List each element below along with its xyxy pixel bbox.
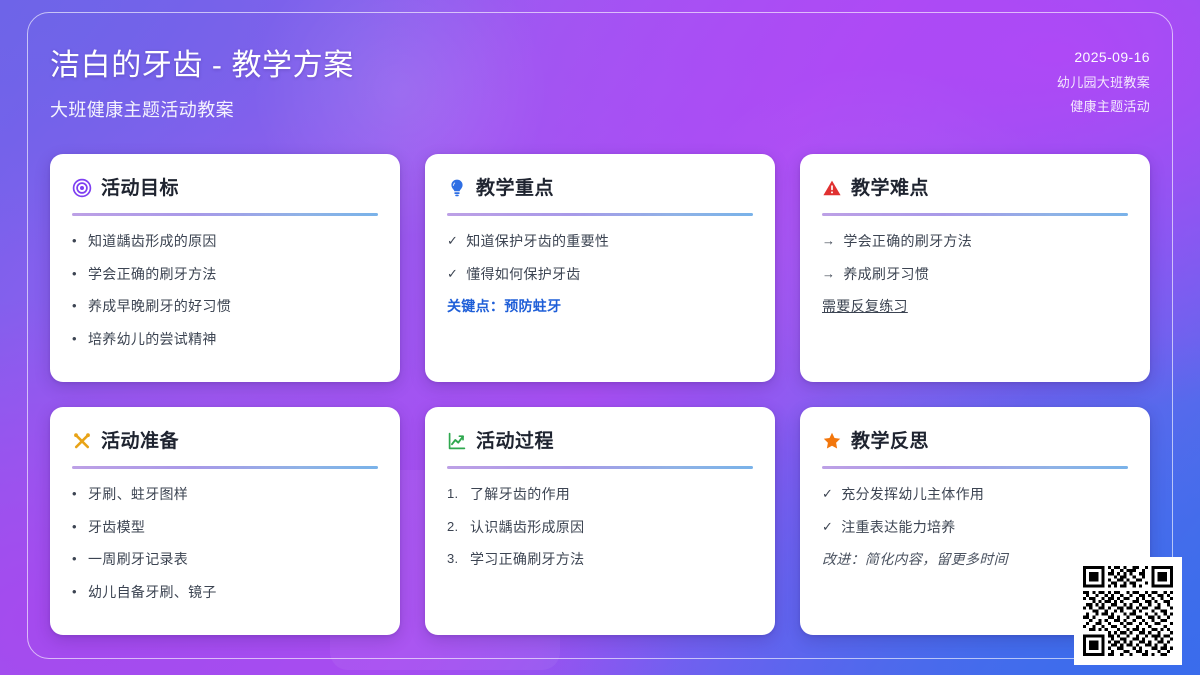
list-item: • 牙刷、蛀牙图样 — [72, 485, 378, 505]
list-item-text: 懂得如何保护牙齿 — [466, 265, 753, 285]
card-item-list: • 牙刷、蛀牙图样 • 牙齿模型 • 一周刷牙记录表 • 幼儿自备牙刷、镜子 — [72, 485, 378, 602]
card-title: 教学反思 — [851, 432, 929, 451]
list-item-text: 牙齿模型 — [88, 518, 378, 538]
list-item: ✓ 充分发挥幼儿主体作用 — [822, 485, 1128, 505]
check-marker: ✓ — [447, 265, 458, 284]
list-item-text: 幼儿自备牙刷、镜子 — [88, 583, 378, 603]
list-item: ✓ 注重表达能力培养 — [822, 518, 1128, 538]
number-marker: 1. — [447, 485, 462, 504]
card-objectives[interactable]: 活动目标 • 知道龋齿形成的原因 • 学会正确的刷牙方法 • 养成早晚刷牙的好习… — [50, 154, 400, 382]
card-process[interactable]: 活动过程 1. 了解牙齿的作用 2. 认识龋齿形成原因 3. 学习正确刷牙方法 — [425, 407, 775, 635]
card-title: 教学难点 — [851, 179, 929, 198]
list-item: 1. 了解牙齿的作用 — [447, 485, 753, 505]
card-difficulties[interactable]: 教学难点 → 学会正确的刷牙方法 → 养成刷牙习惯 需要反复练习 — [800, 154, 1150, 382]
card-note-underline: 需要反复练习 — [822, 297, 1128, 317]
list-item-text: 培养幼儿的尝试精神 — [88, 330, 378, 350]
star-icon — [822, 431, 842, 451]
list-item: 2. 认识龋齿形成原因 — [447, 518, 753, 538]
card-title: 活动过程 — [476, 432, 554, 451]
card-key-points[interactable]: 教学重点 ✓ 知道保护牙齿的重要性 ✓ 懂得如何保护牙齿 关键点：预防蛀牙 — [425, 154, 775, 382]
list-item: 3. 学习正确刷牙方法 — [447, 550, 753, 570]
card-title: 活动目标 — [101, 179, 179, 198]
list-item: • 牙齿模型 — [72, 518, 378, 538]
bullet-marker: • — [72, 485, 80, 504]
card-divider — [72, 213, 378, 216]
list-item: → 学会正确的刷牙方法 — [822, 232, 1128, 252]
card-header: 活动准备 — [72, 427, 378, 455]
list-item-text: 知道龋齿形成的原因 — [88, 232, 378, 252]
card-title: 教学重点 — [476, 179, 554, 198]
target-icon — [72, 178, 92, 198]
slide-header: 洁白的牙齿 - 教学方案 大班健康主题活动教案 2025-09-16 幼儿园大班… — [50, 38, 1150, 134]
card-preparation[interactable]: 活动准备 • 牙刷、蛀牙图样 • 牙齿模型 • 一周刷牙记录表 • 幼儿 — [50, 407, 400, 635]
list-item: • 学会正确的刷牙方法 — [72, 265, 378, 285]
header-meta: 2025-09-16 幼儿园大班教案 健康主题活动 — [1057, 45, 1150, 119]
card-divider — [822, 213, 1128, 216]
card-header: 教学反思 — [822, 427, 1128, 455]
lightbulb-icon — [447, 178, 467, 198]
card-header: 教学重点 — [447, 174, 753, 202]
qr-code-image — [1083, 566, 1173, 656]
bullet-marker: • — [72, 297, 80, 316]
meta-date: 2025-09-16 — [1057, 45, 1150, 71]
list-item-text: 认识龋齿形成原因 — [470, 518, 753, 538]
tools-icon — [72, 431, 92, 451]
list-item-text: 充分发挥幼儿主体作用 — [841, 485, 1128, 505]
card-header: 教学难点 — [822, 174, 1128, 202]
meta-theme: 健康主题活动 — [1057, 95, 1150, 119]
list-item-text: 了解牙齿的作用 — [470, 485, 753, 505]
card-item-list: ✓ 知道保护牙齿的重要性 ✓ 懂得如何保护牙齿 — [447, 232, 753, 284]
warning-icon — [822, 178, 842, 198]
arrow-marker: → — [822, 265, 835, 284]
card-item-list: → 学会正确的刷牙方法 → 养成刷牙习惯 — [822, 232, 1128, 284]
page-subtitle: 大班健康主题活动教案 — [50, 96, 354, 122]
card-item-list: • 知道龋齿形成的原因 • 学会正确的刷牙方法 • 养成早晚刷牙的好习惯 • 培… — [72, 232, 378, 349]
list-item-text: 养成刷牙习惯 — [843, 265, 1128, 285]
bullet-marker: • — [72, 518, 80, 537]
list-item-text: 养成早晚刷牙的好习惯 — [88, 297, 378, 317]
list-item: • 培养幼儿的尝试精神 — [72, 330, 378, 350]
list-item-text: 学习正确刷牙方法 — [470, 550, 753, 570]
card-note-highlight: 关键点：预防蛀牙 — [447, 297, 753, 317]
bullet-marker: • — [72, 265, 80, 284]
arrow-marker: → — [822, 232, 835, 251]
list-item: ✓ 知道保护牙齿的重要性 — [447, 232, 753, 252]
qr-code[interactable] — [1074, 557, 1182, 665]
chart-increasing-icon — [447, 431, 467, 451]
list-item: • 一周刷牙记录表 — [72, 550, 378, 570]
card-grid: 活动目标 • 知道龋齿形成的原因 • 学会正确的刷牙方法 • 养成早晚刷牙的好习… — [50, 154, 1150, 635]
list-item-text: 注重表达能力培养 — [841, 518, 1128, 538]
title-block: 洁白的牙齿 - 教学方案 大班健康主题活动教案 — [50, 47, 354, 122]
list-item: • 知道龋齿形成的原因 — [72, 232, 378, 252]
bullet-marker: • — [72, 330, 80, 349]
check-marker: ✓ — [822, 485, 833, 504]
card-title: 活动准备 — [101, 432, 179, 451]
list-item-text: 知道保护牙齿的重要性 — [466, 232, 753, 252]
card-divider — [822, 466, 1128, 469]
number-marker: 3. — [447, 550, 462, 569]
card-divider — [447, 213, 753, 216]
list-item: → 养成刷牙习惯 — [822, 265, 1128, 285]
page-title: 洁白的牙齿 - 教学方案 — [50, 47, 354, 85]
list-item: • 幼儿自备牙刷、镜子 — [72, 583, 378, 603]
card-header: 活动目标 — [72, 174, 378, 202]
number-marker: 2. — [447, 518, 462, 537]
card-item-list: 1. 了解牙齿的作用 2. 认识龋齿形成原因 3. 学习正确刷牙方法 — [447, 485, 753, 570]
card-item-list: ✓ 充分发挥幼儿主体作用 ✓ 注重表达能力培养 — [822, 485, 1128, 537]
list-item-text: 牙刷、蛀牙图样 — [88, 485, 378, 505]
bullet-marker: • — [72, 583, 80, 602]
card-header: 活动过程 — [447, 427, 753, 455]
bullet-marker: • — [72, 550, 80, 569]
list-item-text: 一周刷牙记录表 — [88, 550, 378, 570]
list-item: ✓ 懂得如何保护牙齿 — [447, 265, 753, 285]
list-item-text: 学会正确的刷牙方法 — [843, 232, 1128, 252]
card-divider — [72, 466, 378, 469]
list-item-text: 学会正确的刷牙方法 — [88, 265, 378, 285]
slide-root: 洁白的牙齿 - 教学方案 大班健康主题活动教案 2025-09-16 幼儿园大班… — [0, 0, 1200, 675]
meta-grade: 幼儿园大班教案 — [1057, 71, 1150, 95]
check-marker: ✓ — [447, 232, 458, 251]
check-marker: ✓ — [822, 518, 833, 537]
list-item: • 养成早晚刷牙的好习惯 — [72, 297, 378, 317]
card-divider — [447, 466, 753, 469]
bullet-marker: • — [72, 232, 80, 251]
